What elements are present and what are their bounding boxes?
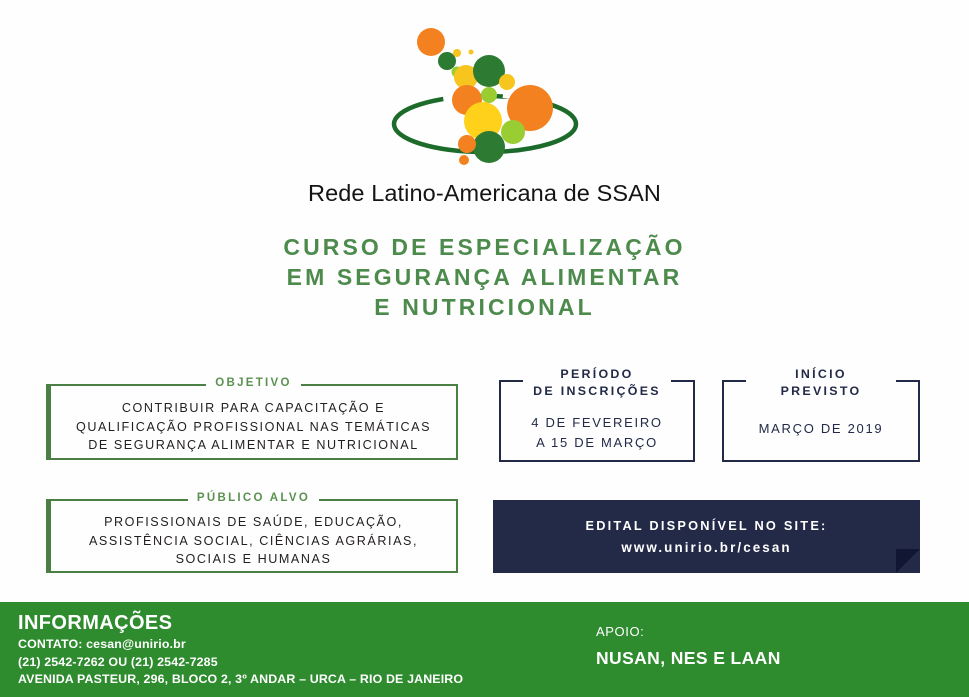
periodo-body: 4 DE FEVEREIRO A 15 DE MARÇO: [499, 413, 695, 453]
poster-root: Rede Latino-Americana de SSAN CURSO DE E…: [0, 0, 969, 697]
objetivo-heading: OBJETIVO: [51, 377, 456, 389]
edital-line-1: EDITAL DISPONÍVEL NO SITE:: [493, 518, 920, 533]
periodo-inscricoes-box: PERÍODO DE INSCRIÇÕES 4 DE FEVEREIRO A 1…: [499, 366, 695, 462]
apoio-names: NUSAN, NES E LAAN: [596, 648, 781, 669]
objetivo-line-1: CONTRIBUIR PARA CAPACITAÇÃO E: [59, 399, 448, 418]
publico-alvo-heading-text: PÚBLICO ALVO: [188, 492, 319, 504]
apoio-label: APOIO:: [596, 624, 781, 639]
inicio-heading: INÍCIO PREVISTO: [722, 366, 920, 400]
edital-banner[interactable]: EDITAL DISPONÍVEL NO SITE: www.unirio.br…: [493, 500, 920, 573]
footer: INFORMAÇÕES CONTATO: cesan@unirio.br (21…: [0, 602, 969, 697]
banner-fold-corner: [896, 549, 920, 573]
publico-alvo-heading: PÚBLICO ALVO: [51, 492, 456, 504]
objetivo-heading-text: OBJETIVO: [206, 377, 301, 389]
page-title: CURSO DE ESPECIALIZAÇÃO EM SEGURANÇA ALI…: [0, 232, 969, 322]
periodo-body-line-2: A 15 DE MARÇO: [499, 433, 695, 453]
publico-alvo-body: PROFISSIONAIS DE SAÚDE, EDUCAÇÃO, ASSIST…: [51, 501, 456, 569]
informacoes-phone: (21) 2542-7262 OU (21) 2542-7285: [18, 654, 463, 672]
inicio-previsto-box: INÍCIO PREVISTO MARÇO DE 2019: [722, 366, 920, 462]
rede-latino-americana-ssan-logo-icon: [385, 16, 585, 166]
inicio-body-line-1: MARÇO DE 2019: [722, 419, 920, 439]
publico-alvo-line-2: ASSISTÊNCIA SOCIAL, CIÊNCIAS AGRÁRIAS,: [59, 532, 448, 551]
inicio-heading-line-2: PREVISTO: [722, 383, 920, 400]
informacoes-address: AVENIDA PASTEUR, 296, BLOCO 2, 3º ANDAR …: [18, 671, 463, 689]
edital-website-link[interactable]: www.unirio.br/cesan: [493, 540, 920, 555]
objetivo-body: CONTRIBUIR PARA CAPACITAÇÃO E QUALIFICAÇ…: [51, 386, 456, 455]
periodo-body-line-1: 4 DE FEVEREIRO: [499, 413, 695, 433]
organization-name: Rede Latino-Americana de SSAN: [0, 180, 969, 207]
objetivo-box: OBJETIVO CONTRIBUIR PARA CAPACITAÇÃO E Q…: [46, 384, 458, 460]
logo-area: [0, 16, 969, 176]
periodo-heading-line-1: PERÍODO: [499, 366, 695, 383]
page-title-line-2: EM SEGURANÇA ALIMENTAR: [0, 262, 969, 292]
informacoes-title: INFORMAÇÕES: [18, 612, 463, 635]
periodo-heading-line-2: DE INSCRIÇÕES: [499, 383, 695, 400]
inicio-body: MARÇO DE 2019: [722, 419, 920, 439]
publico-alvo-line-3: SOCIAIS E HUMANAS: [59, 550, 448, 569]
publico-alvo-box: PÚBLICO ALVO PROFISSIONAIS DE SAÚDE, EDU…: [46, 499, 458, 573]
periodo-heading: PERÍODO DE INSCRIÇÕES: [499, 366, 695, 400]
page-title-line-3: E NUTRICIONAL: [0, 292, 969, 322]
publico-alvo-line-1: PROFISSIONAIS DE SAÚDE, EDUCAÇÃO,: [59, 513, 448, 532]
footer-apoio: APOIO: NUSAN, NES E LAAN: [596, 624, 781, 669]
objetivo-line-3: DE SEGURANÇA ALIMENTAR E NUTRICIONAL: [59, 436, 448, 455]
objetivo-line-2: QUALIFICAÇÃO PROFISSIONAL NAS TEMÁTICAS: [59, 418, 448, 437]
informacoes-contact-email[interactable]: CONTATO: cesan@unirio.br: [18, 636, 463, 654]
page-title-line-1: CURSO DE ESPECIALIZAÇÃO: [0, 232, 969, 262]
inicio-heading-line-1: INÍCIO: [722, 366, 920, 383]
footer-informacoes: INFORMAÇÕES CONTATO: cesan@unirio.br (21…: [18, 612, 463, 689]
